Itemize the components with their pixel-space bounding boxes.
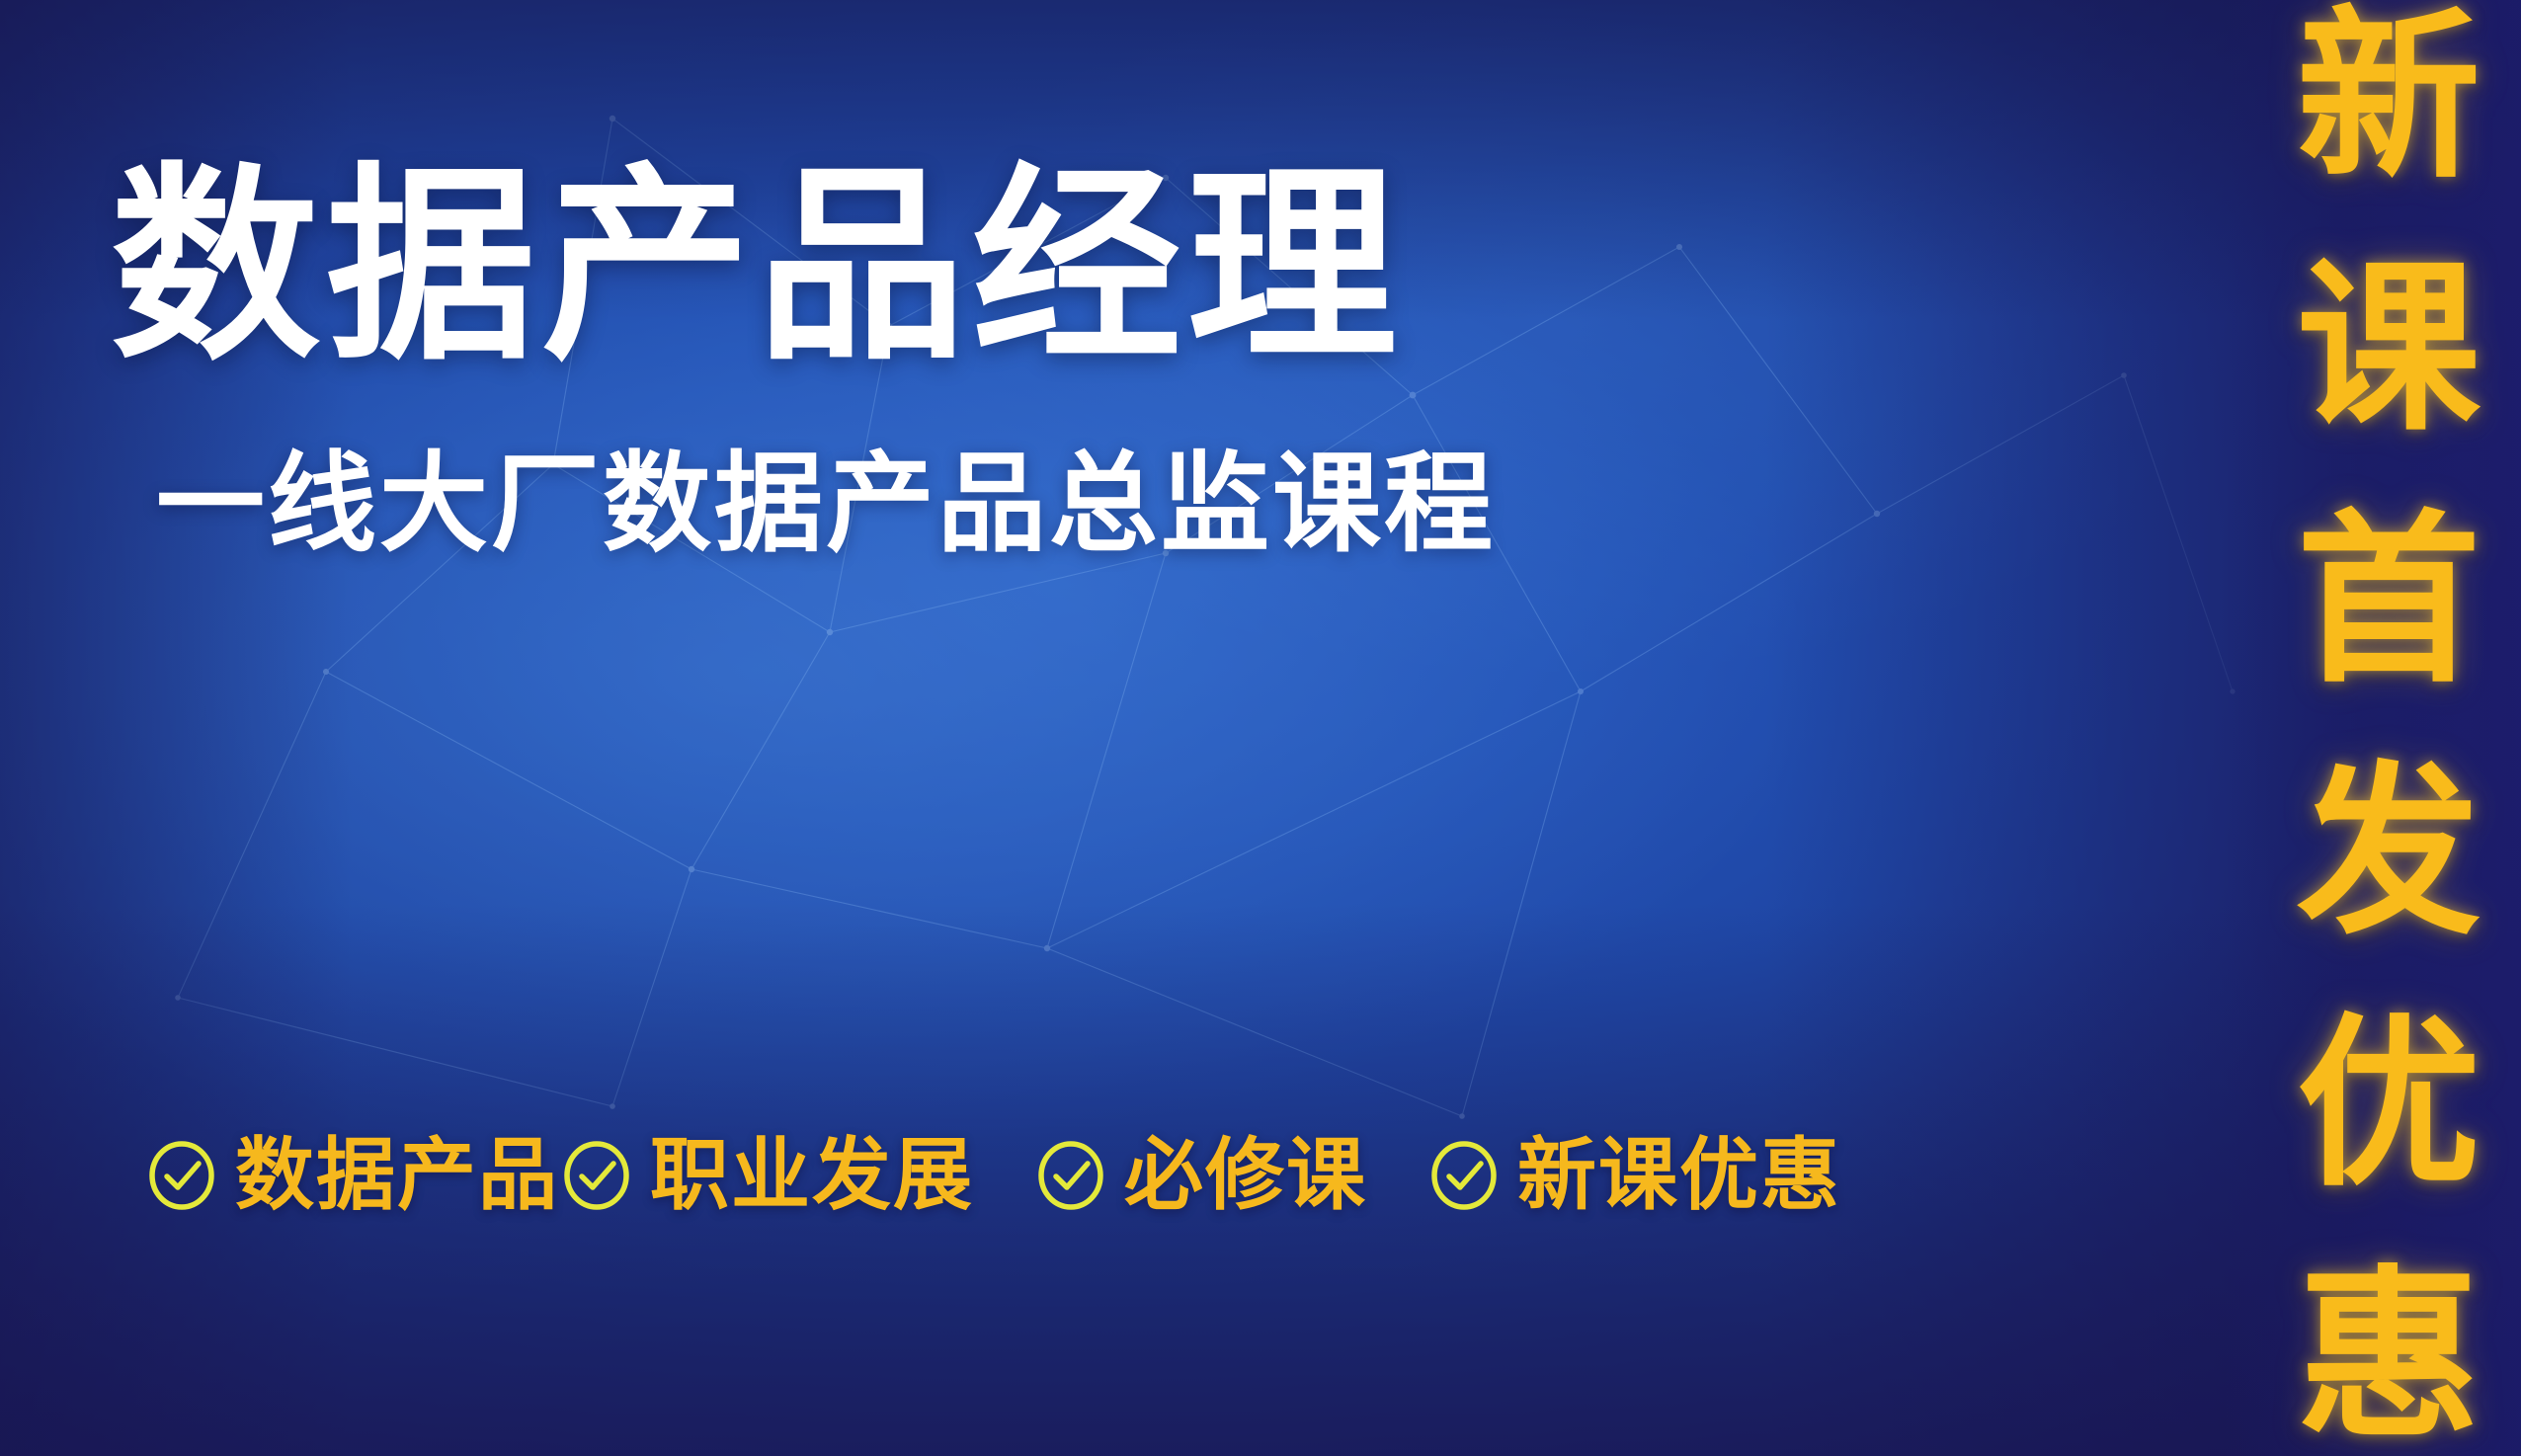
vertical-char: 惠: [2297, 1269, 2480, 1446]
vertical-char: 优: [2297, 1017, 2480, 1194]
check-circle-icon: [1428, 1140, 1500, 1211]
check-circle-icon: [146, 1140, 217, 1211]
promo-banner: 数据产品经理 一线大厂数据产品总监课程 数据产品 职业发展: [0, 0, 2521, 1456]
feature-badge-label: 必修课: [1124, 1136, 1367, 1215]
vertical-char: 发: [2297, 766, 2480, 942]
check-circle-icon: [561, 1140, 632, 1211]
page-subtitle: 一线大厂数据产品总监课程: [156, 445, 1496, 564]
vertical-char: 新: [2297, 10, 2480, 187]
feature-badge[interactable]: 必修课: [1035, 1136, 1367, 1215]
page-title: 数据产品经理: [111, 160, 1395, 373]
vertical-char: 课: [2297, 262, 2480, 439]
check-circle-icon: [1035, 1140, 1106, 1211]
feature-badge-label: 新课优惠: [1517, 1136, 1841, 1215]
feature-badge-label: 职业发展: [650, 1136, 974, 1215]
vertical-char: 首: [2297, 514, 2480, 690]
feature-badge[interactable]: 新课优惠: [1428, 1136, 1841, 1215]
headline-block: 数据产品经理: [111, 160, 1395, 373]
feature-badge-list: 数据产品 职业发展 必修课: [146, 1136, 1841, 1215]
feature-badge-label: 数据产品: [235, 1136, 559, 1215]
feature-badge[interactable]: 数据产品: [146, 1136, 559, 1215]
feature-badge[interactable]: 职业发展: [561, 1136, 974, 1215]
vertical-promo-text: 新 课 首 发 优 惠: [2264, 4, 2513, 1452]
